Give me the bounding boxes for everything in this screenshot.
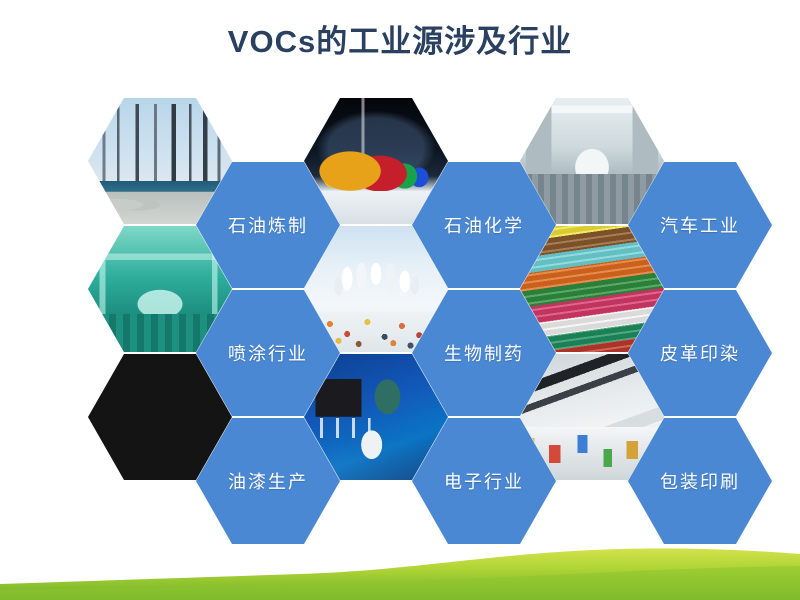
grass-hill-shape [0,540,800,600]
grass-footer-decoration [0,540,800,600]
hex-label-electronics-text: 电子行业 [444,468,524,494]
hex-label-automotive-text: 汽车工业 [660,212,740,238]
hex-label-biopharma-text: 生物制药 [444,340,524,366]
hex-label-oil-refining-text: 石油炼制 [228,212,308,238]
hex-label-leather-dyeing-text: 皮革印染 [660,340,740,366]
hex-label-petrochemical-text: 石油化学 [444,212,524,238]
hex-label-paint-making-text: 油漆生产 [228,468,308,494]
hex-label-packaging-print-text: 包装印刷 [660,468,740,494]
honeycomb-diagram: 石油炼制 喷涂行业 油漆生产 石油化学 生物制药 电子行业 汽车工业 皮革印染 [0,0,800,560]
hex-label-spray-coating-text: 喷涂行业 [228,340,308,366]
